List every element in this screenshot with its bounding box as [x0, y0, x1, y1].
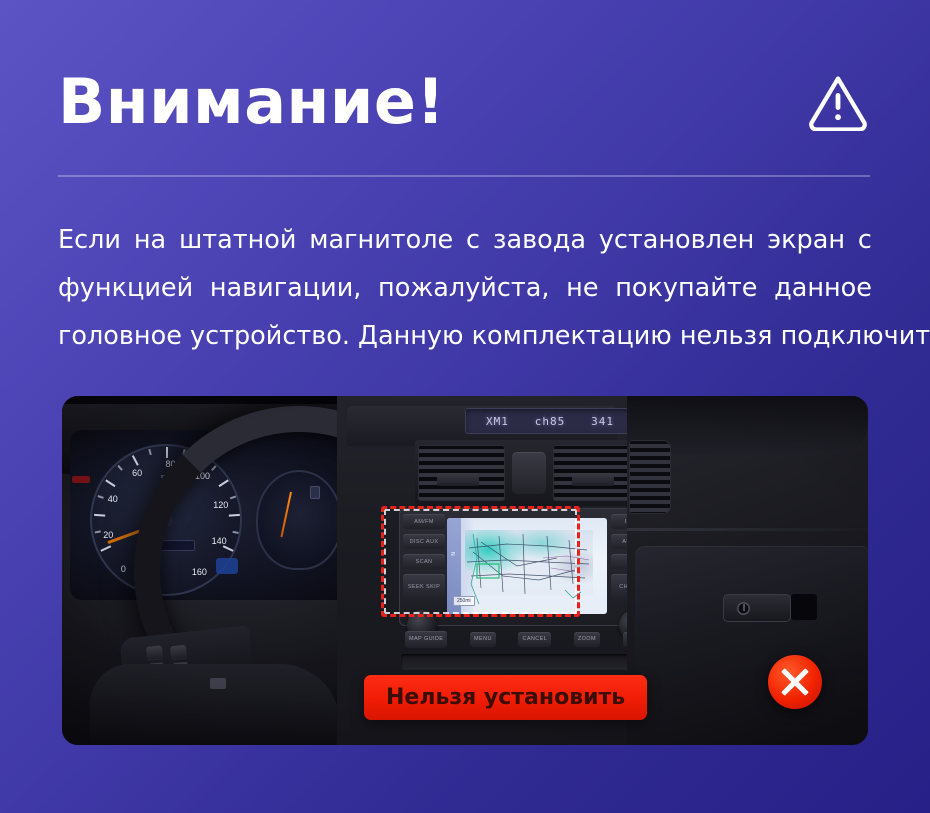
glove-box-gap — [791, 594, 817, 620]
word: завода — [493, 216, 586, 264]
speedo-num: 0 — [121, 564, 126, 574]
word: на — [134, 216, 166, 264]
cannot-install-button[interactable]: Нельзя установить — [364, 675, 647, 720]
navigation-button-row: MAP GUIDE MENU CANCEL ZOOM SETUP — [399, 628, 657, 650]
steering-column-shroud — [90, 664, 340, 745]
zoom-button[interactable]: ZOOM — [574, 632, 600, 647]
header-divider — [58, 175, 870, 177]
word: экран — [767, 216, 845, 264]
hazard-button[interactable] — [512, 452, 546, 494]
nav-screen-highlight-inner — [384, 509, 577, 614]
word: навигации, — [210, 264, 362, 312]
speedo-num: 60 — [132, 468, 142, 478]
air-vent-left[interactable] — [418, 445, 505, 501]
word: штатной — [179, 216, 297, 264]
passenger-air-vent[interactable] — [629, 440, 671, 514]
word: магнитоле — [309, 216, 453, 264]
banner-header: Внимание! — [58, 48, 870, 156]
word: с — [466, 216, 480, 264]
steering-wheel-badge — [210, 678, 226, 689]
word: данное — [774, 264, 872, 312]
glove-box-lock-icon — [737, 602, 750, 615]
cancel-button[interactable]: CANCEL — [518, 632, 551, 647]
warning-text-line-3: головное устройство. Данную комплектацию… — [58, 312, 872, 360]
word: пожалуйста, — [378, 264, 549, 312]
map-guide-button[interactable]: MAP GUIDE — [405, 631, 447, 648]
x-circle-icon — [768, 655, 822, 709]
radio-preset-text: 341 — [591, 415, 614, 428]
cd-slot[interactable] — [401, 654, 651, 670]
word: не — [566, 264, 598, 312]
radio-source-text: XM1 — [486, 415, 509, 428]
radio-channel-text: ch85 — [535, 415, 566, 428]
glove-box[interactable] — [635, 546, 868, 676]
dashboard-photo: 0 20 40 60 80 100 120 140 160 mph — [62, 396, 868, 745]
radio-info-display: XM1 ch85 341 — [465, 408, 635, 434]
warning-text-line-2: функцией навигации, пожалуйста, не покуп… — [58, 264, 872, 312]
dashboard-illustration: 0 20 40 60 80 100 120 140 160 mph — [62, 396, 868, 745]
warning-lamp-red — [72, 476, 90, 483]
menu-button[interactable]: MENU — [470, 632, 496, 647]
center-air-vents — [415, 440, 643, 506]
vent-tab[interactable] — [572, 473, 614, 486]
word: функцией — [58, 264, 193, 312]
word: Если — [58, 216, 121, 264]
warning-banner: Внимание! Если на штатной магнитоле с за… — [0, 0, 930, 813]
warning-triangle-icon — [806, 73, 870, 131]
passenger-side-dashboard — [627, 396, 868, 745]
glove-box-handle[interactable] — [723, 594, 791, 622]
page-title: Внимание! — [58, 71, 445, 133]
warning-text-line-1: Если на штатной магнитоле с завода устан… — [58, 216, 872, 264]
speedo-num: 40 — [108, 494, 118, 504]
word: установлен — [599, 216, 755, 264]
dash-seam — [627, 528, 868, 531]
vent-tab[interactable] — [437, 473, 479, 486]
warning-text: Если на штатной магнитоле с завода устан… — [58, 216, 872, 360]
word: с — [858, 216, 872, 264]
word: покупайте — [615, 264, 757, 312]
